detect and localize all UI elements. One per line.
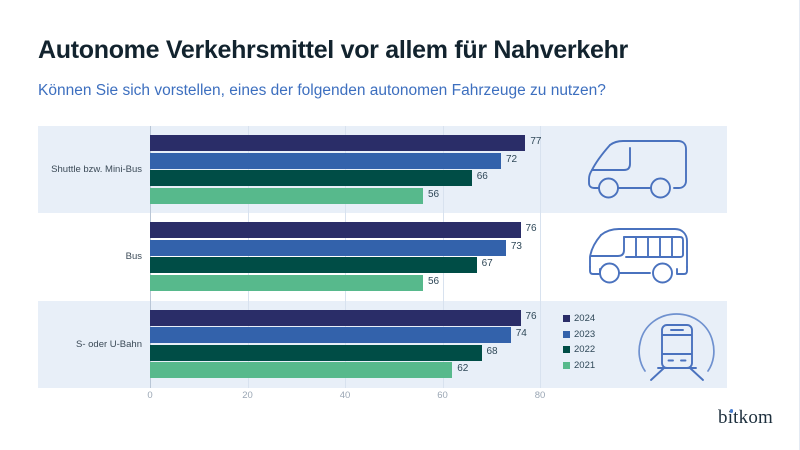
page-title: Autonome Verkehrsmittel vor allem für Na… <box>38 36 738 65</box>
bar-value-label: 56 <box>428 276 439 287</box>
bar-2024[interactable] <box>150 135 525 151</box>
bar-2023[interactable] <box>150 240 506 256</box>
bar-row: 68 <box>150 345 725 361</box>
bar-row: 74 <box>150 327 725 343</box>
category-label: S- oder U-Bahn <box>38 301 142 388</box>
x-tick-label: 0 <box>147 390 152 401</box>
bar-group: Shuttle bzw. Mini-Bus77726656 <box>38 126 727 213</box>
bar-row: 56 <box>150 275 725 291</box>
bars-container: 76736756 <box>150 222 725 292</box>
bar-row: 76 <box>150 310 725 326</box>
bar-group: S- oder U-Bahn76746862 <box>38 301 727 388</box>
legend-item-2022[interactable]: 2022 <box>563 342 623 358</box>
bar-value-label: 72 <box>506 154 517 165</box>
legend-item-2023[interactable]: 2023 <box>563 327 623 343</box>
bar-2024[interactable] <box>150 310 521 326</box>
bar-2022[interactable] <box>150 345 482 361</box>
legend-label: 2021 <box>574 360 595 371</box>
x-axis-ticks: 020406080 <box>38 390 727 408</box>
bar-2022[interactable] <box>150 257 477 273</box>
legend-swatch <box>563 346 570 353</box>
infographic-page: Autonome Verkehrsmittel vor allem für Na… <box>0 0 800 450</box>
x-tick-label: 60 <box>437 390 448 401</box>
page-subtitle: Können Sie sich vorstellen, eines der fo… <box>38 82 738 100</box>
bar-row: 62 <box>150 362 725 378</box>
bar-2023[interactable] <box>150 153 501 169</box>
bar-value-label: 74 <box>516 328 527 339</box>
bar-2022[interactable] <box>150 170 472 186</box>
legend-label: 2022 <box>574 344 595 355</box>
bar-row: 76 <box>150 222 725 238</box>
x-tick-label: 80 <box>535 390 546 401</box>
x-tick-label: 20 <box>242 390 253 401</box>
x-tick-label: 40 <box>340 390 351 401</box>
bar-value-label: 56 <box>428 189 439 200</box>
category-label: Shuttle bzw. Mini-Bus <box>38 126 142 213</box>
bar-row: 66 <box>150 170 725 186</box>
bar-value-label: 73 <box>511 241 522 252</box>
category-label: Bus <box>38 213 142 300</box>
bar-group: Bus76736756 <box>38 213 727 300</box>
bar-value-label: 67 <box>482 258 493 269</box>
bars-container: 76746862 <box>150 310 725 380</box>
bar-row: 72 <box>150 153 725 169</box>
bar-row: 56 <box>150 188 725 204</box>
legend-swatch <box>563 315 570 322</box>
legend-swatch <box>563 362 570 369</box>
bar-row: 67 <box>150 257 725 273</box>
legend-swatch <box>563 331 570 338</box>
legend-item-2021[interactable]: 2021 <box>563 358 623 374</box>
bar-value-label: 68 <box>487 346 498 357</box>
bar-value-label: 76 <box>526 223 537 234</box>
bar-2021[interactable] <box>150 362 452 378</box>
bar-row: 77 <box>150 135 725 151</box>
bar-2021[interactable] <box>150 188 423 204</box>
bar-row: 73 <box>150 240 725 256</box>
logo-text: bitkom <box>718 407 773 428</box>
logo-dot <box>730 409 734 413</box>
bar-value-label: 76 <box>526 311 537 322</box>
chart-legend: 2024202320222021 <box>563 311 623 373</box>
bar-chart: Shuttle bzw. Mini-Bus77726656Bus76736756… <box>38 126 727 388</box>
bar-2023[interactable] <box>150 327 511 343</box>
bar-2024[interactable] <box>150 222 521 238</box>
bars-container: 77726656 <box>150 135 725 205</box>
bar-value-label: 77 <box>530 136 541 147</box>
legend-item-2024[interactable]: 2024 <box>563 311 623 327</box>
bar-value-label: 66 <box>477 171 488 182</box>
legend-label: 2023 <box>574 329 595 340</box>
legend-label: 2024 <box>574 313 595 324</box>
bitkom-logo: bitkom <box>718 407 773 429</box>
bar-2021[interactable] <box>150 275 423 291</box>
bar-value-label: 62 <box>457 363 468 374</box>
